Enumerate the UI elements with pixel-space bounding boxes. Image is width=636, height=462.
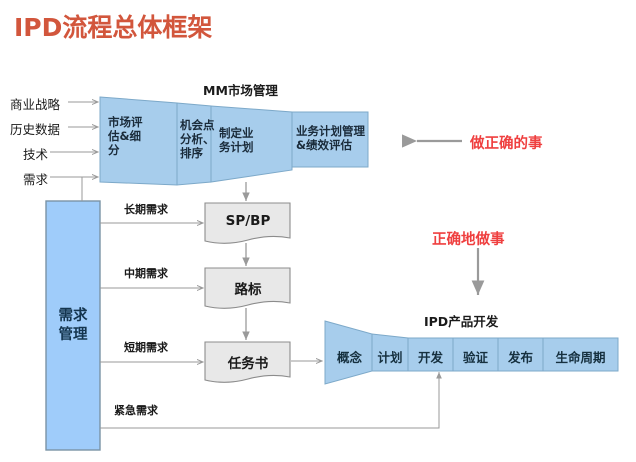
document-label-sp-bp[interactable]: SP/BP [216,213,280,229]
document-label-task-statement[interactable]: 任务书 [216,352,280,372]
mm-segment-business-planning[interactable]: 制定业 务计划 [219,126,281,154]
input-label-技术: 技术 [23,144,48,163]
ipd-stage-develop[interactable]: 开发 [408,347,453,366]
diagram-vector-layer [0,0,636,462]
mm-segment-market-assessment[interactable]: 市场评 估&细 分 [108,115,172,157]
input-label-历史数据: 历史数据 [10,119,60,138]
diagram-canvas: IPD流程总体框架 [0,0,636,462]
document-label-roadmap[interactable]: 路标 [216,278,280,298]
flow-label-long-term-demand: 长期需求 [124,201,168,217]
note-do-right-things: 做正确的事 [470,132,543,153]
flow-label-short-term-demand: 短期需求 [124,339,168,355]
ipd-funnel-title: IPD产品开发 [424,311,498,330]
input-label-需求: 需求 [23,169,48,188]
ipd-stage-lifecycle[interactable]: 生命周期 [543,347,618,366]
ipd-stage-plan[interactable]: 计划 [369,347,411,366]
ipd-stage-release[interactable]: 发布 [498,347,543,366]
mm-funnel-title: MM市场管理 [203,80,278,99]
note-do-things-right: 正确地做事 [432,228,505,249]
mm-segment-business-plan-management[interactable]: 业务计划管理 &绩效评估 [296,124,368,152]
input-arrows [50,102,98,177]
ipd-stage-concept[interactable]: 概念 [327,347,372,366]
demand-management-label[interactable]: 需求 管理 [46,307,100,345]
flow-label-urgent-demand: 紧急需求 [114,402,158,418]
demand-flow-arrows [100,223,439,428]
flow-label-mid-term-demand: 中期需求 [124,265,168,281]
ipd-stage-verify[interactable]: 验证 [453,347,498,366]
input-label-商业战略: 商业战略 [10,94,60,113]
